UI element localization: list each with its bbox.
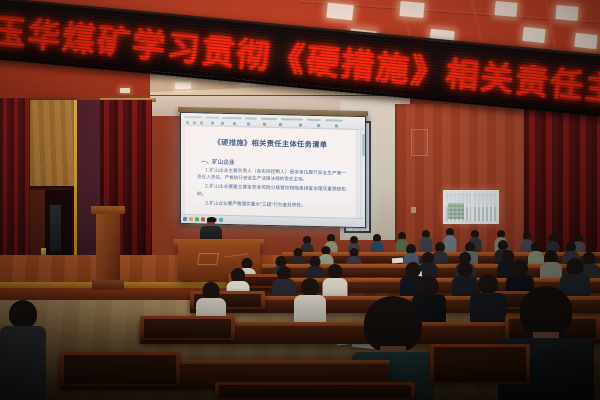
- window-building-view: [448, 203, 464, 219]
- ceiling-panel-light: [522, 27, 545, 43]
- podium-body: [96, 214, 120, 280]
- ceiling-downlight: [175, 82, 191, 90]
- document-body: 1.矿山企业主要负责人（含实际控制人）是本单位履行安全生产第一责任人责任、严格执…: [197, 167, 346, 212]
- bench-seatback: [430, 344, 530, 384]
- wall-plaque: [411, 129, 428, 156]
- bench-seatback: [140, 316, 235, 340]
- light-switch[interactable]: [411, 207, 416, 213]
- presenter-hair: [207, 217, 216, 222]
- document-paragraph: 2.矿山企业要建立健全安全风险分级管控和隐患排查治理双重预防机制。: [197, 184, 346, 202]
- attendee: [0, 300, 46, 400]
- taskbar-icon-folder[interactable]: [189, 217, 193, 221]
- podium-top: [91, 206, 125, 214]
- ceiling-panel-light: [326, 3, 353, 21]
- side-window: [443, 190, 499, 224]
- bench-seatback: [60, 352, 180, 386]
- door-glass-panel: [50, 205, 61, 251]
- projection-screen: 《硬措施》相关责任主体任务清单 一、矿山企业 1.矿山企业主要负责人（含实际控制…: [180, 112, 366, 228]
- document-section-heading: 一、矿山企业: [201, 157, 235, 166]
- document-page: 《硬措施》相关责任主体任务清单 一、矿山企业 1.矿山企业主要负责人（含实际控制…: [185, 126, 356, 218]
- ceiling-panel-light: [494, 1, 517, 17]
- ceiling-downlight: [120, 88, 130, 93]
- taskbar-icon-start[interactable]: [183, 217, 187, 221]
- table-panel-diamond: [197, 253, 219, 265]
- wall-wood-panel: [395, 104, 530, 254]
- podium: [94, 206, 122, 292]
- window-mullion: [471, 193, 473, 221]
- vertical-scrollbar[interactable]: [360, 130, 365, 218]
- attendee: [419, 230, 432, 254]
- document-paragraph: 3.矿山企业要严格落实重大"三超"行为查处责任。: [197, 200, 346, 211]
- taskbar-icon-app[interactable]: [195, 217, 199, 221]
- ceiling-panel-light: [399, 1, 424, 18]
- ceiling-panel-light: [574, 33, 597, 49]
- ceiling-panel-light: [555, 5, 578, 21]
- document-title: 《硬措施》相关责任主体任务清单: [185, 137, 356, 151]
- conference-room-photo: 《硬措施》相关责任主体任务清单 一、矿山企业 1.矿山企业主要负责人（含实际控制…: [0, 0, 600, 400]
- podium-base: [92, 280, 124, 290]
- bench-seatback: [215, 382, 415, 400]
- document-paragraph: 1.矿山企业主要负责人（含实际控制人）是本单位履行安全生产第一责任人责任、严格执…: [197, 167, 346, 185]
